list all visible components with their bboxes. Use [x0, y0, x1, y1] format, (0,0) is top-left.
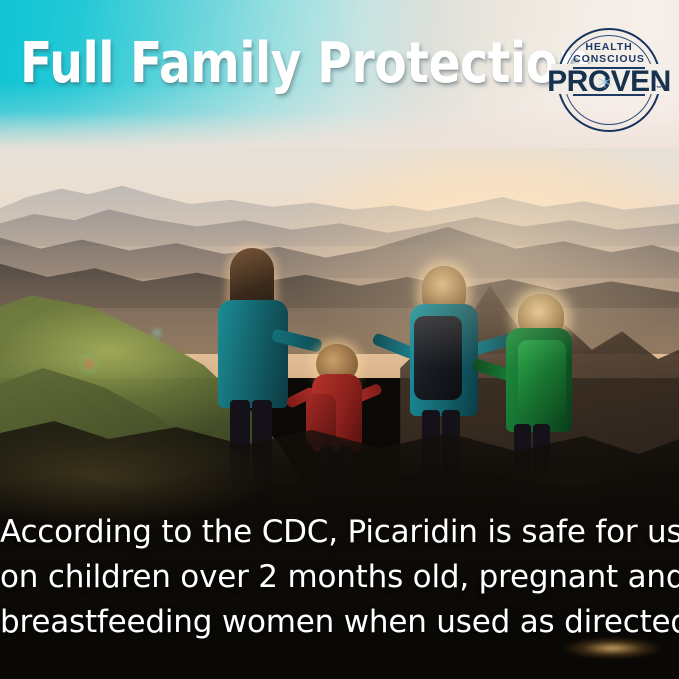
caption-block: According to the CDC, Picaridin is safe … — [0, 510, 679, 645]
trademark-symbol: ™ — [656, 86, 662, 92]
older-child-backpack — [414, 316, 462, 400]
caption-line-2: on children over 2 months old, pregnant … — [0, 555, 679, 600]
caption-line-1: According to the CDC, Picaridin is safe … — [0, 510, 679, 555]
proven-badge: HEALTH CONSCIOUS PROVEN ™ — [557, 28, 661, 132]
adult-torso — [218, 300, 288, 408]
badge-top-line-1: HEALTH — [557, 41, 661, 53]
badge-top-text: HEALTH CONSCIOUS — [557, 41, 661, 65]
caption-line-3: breastfeeding women when used as directe… — [0, 600, 679, 645]
page-title: Full Family Protection — [20, 36, 591, 92]
mosquito-icon — [595, 72, 615, 92]
child-green-backpack — [518, 340, 566, 418]
lens-flare-secondary — [150, 326, 164, 340]
product-feature-image: Full Family Protection HEALTH CONSCIOUS … — [0, 0, 679, 679]
lens-flare — [78, 353, 100, 375]
badge-top-line-2: CONSCIOUS — [557, 53, 661, 65]
